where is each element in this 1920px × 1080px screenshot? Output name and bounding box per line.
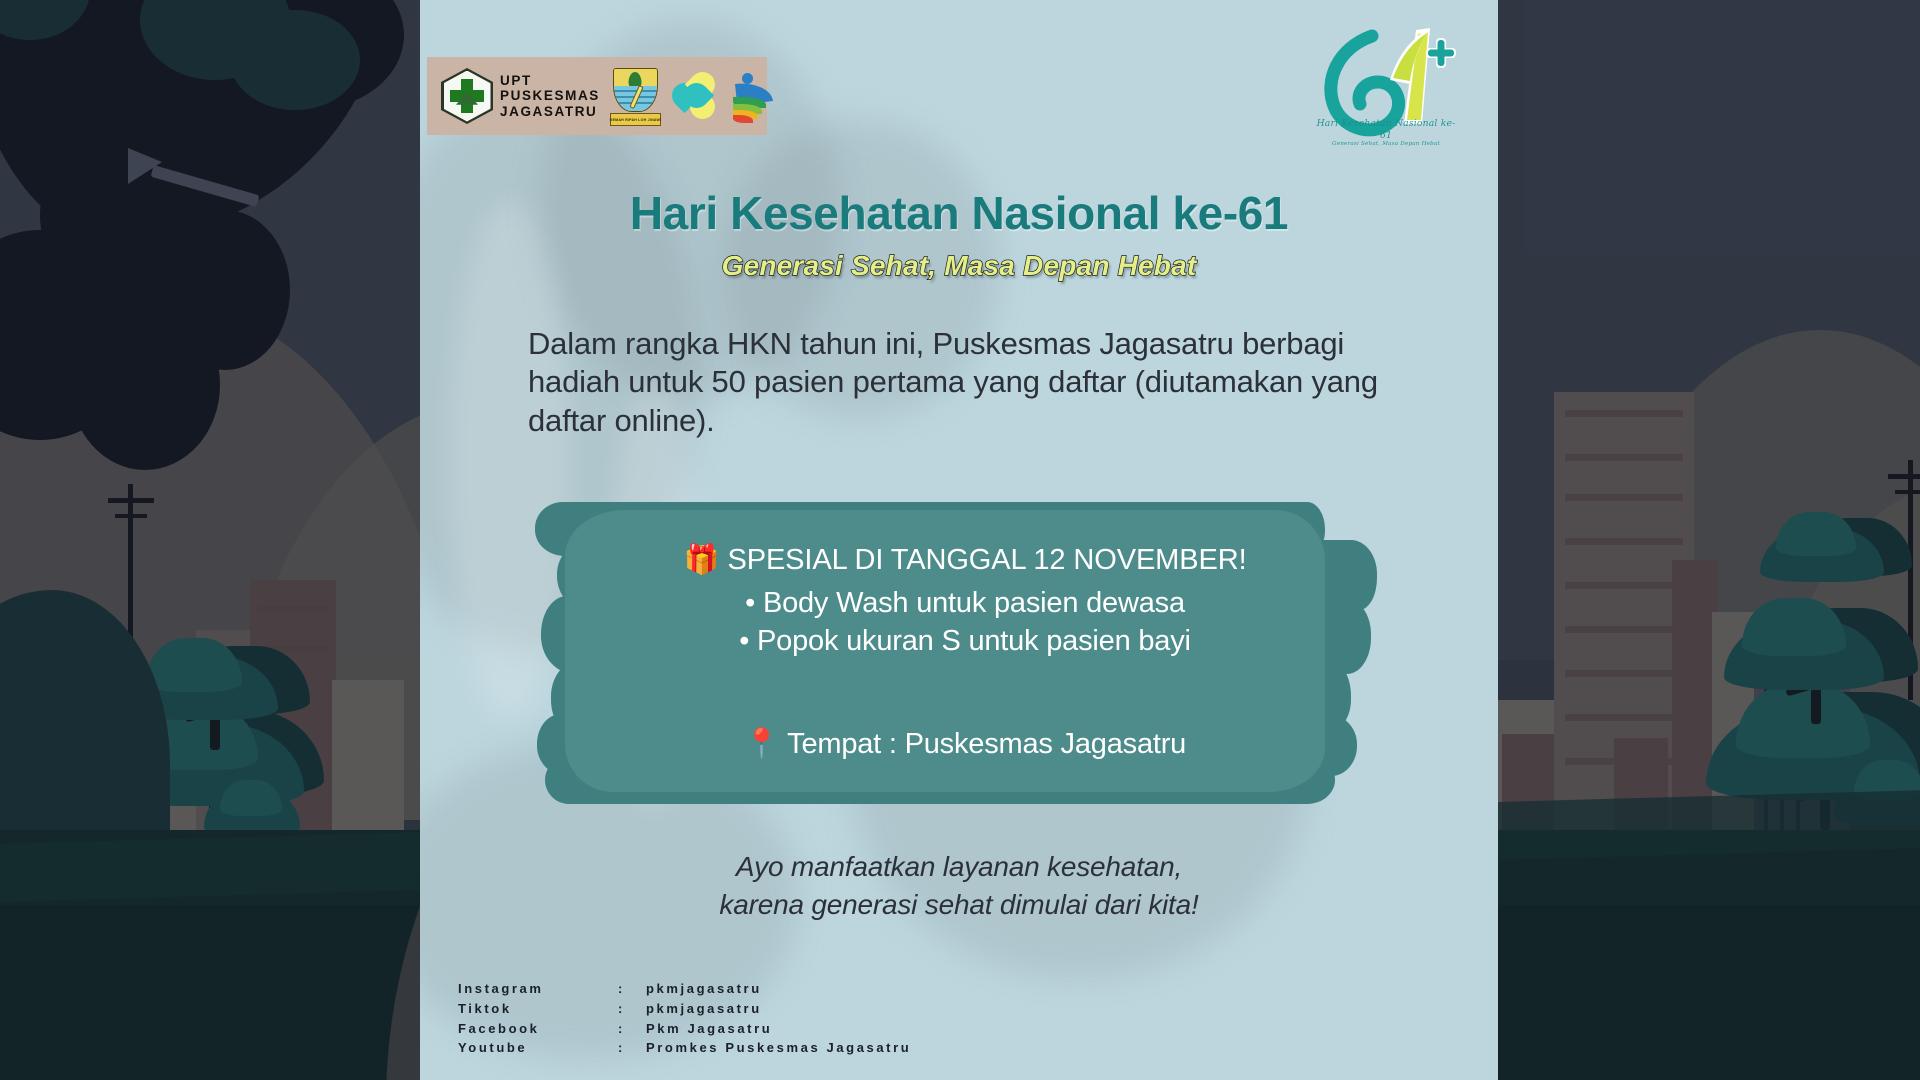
social-handle[interactable]: Pkm Jagasatru (646, 1019, 911, 1039)
closing-message: Ayo manfaatkan layanan kesehatan, karena… (500, 848, 1418, 923)
social-separator: : (618, 1019, 646, 1039)
social-separator: : (618, 1038, 646, 1058)
map-pin-emoji-icon: 📍 (744, 726, 780, 760)
highlight-location-text: Tempat : Puskesmas Jagasatru (787, 728, 1186, 760)
social-media-table: Instagram : pkmjagasatru Tiktok : pkmjag… (458, 979, 911, 1058)
social-platform: Facebook (458, 1019, 618, 1039)
hkn-logo-caption: Hari Kesehatan Nasional ke-61 Generasi S… (1312, 118, 1460, 148)
germas-pinwheel-logo-icon (671, 71, 719, 121)
social-handle[interactable]: Promkes Puskesmas Jagasatru (646, 1038, 911, 1058)
bullet-glyph: • (739, 625, 749, 657)
list-item: • Popok ukuran S untuk pasien bayi (565, 622, 1365, 660)
list-item-label: Body Wash untuk pasien dewasa (763, 587, 1185, 619)
puskesmas-jagasatru-logo: UPT PUSKESMAS JAGASATRU (441, 68, 600, 124)
closing-line-2: karena generasi sehat dimulai dari kita! (500, 886, 1418, 924)
table-row: Youtube : Promkes Puskesmas Jagasatru (458, 1038, 911, 1058)
logo-line-2: PUSKESMAS (500, 88, 600, 103)
gift-emoji-icon: 🎁 (683, 542, 719, 576)
institution-logo-bar: UPT PUSKESMAS JAGASATRU GEMAH RIPAH LOH … (427, 57, 767, 135)
poster-screenshot: UPT PUSKESMAS JAGASATRU GEMAH RIPAH LOH … (0, 0, 1920, 1080)
table-row: Facebook : Pkm Jagasatru (458, 1019, 911, 1039)
bullet-glyph: • (745, 587, 755, 619)
social-separator: : (618, 999, 646, 1019)
hkn-caption-main: Hari Kesehatan Nasional ke-61 (1312, 118, 1460, 141)
closing-line-1: Ayo manfaatkan layanan kesehatan, (500, 848, 1418, 886)
highlight-location: 📍 Tempat : Puskesmas Jagasatru (565, 726, 1365, 761)
social-media-footer: Instagram : pkmjagasatru Tiktok : pkmjag… (458, 979, 911, 1058)
social-separator: : (618, 979, 646, 999)
highlight-brush-block: 🎁 SPESIAL DI TANGGAL 12 NOVEMBER! • Body… (515, 500, 1415, 830)
logo-line-3: JAGASATRU (500, 104, 600, 119)
emblem-ribbon-text: GEMAH RIPAH LOH JINAWI (610, 118, 662, 122)
hkn-61-anniversary-logo-icon: Hari Kesehatan Nasional ke-61 Generasi S… (1312, 14, 1460, 150)
highlight-heading: 🎁 SPESIAL DI TANGGAL 12 NOVEMBER! (565, 542, 1365, 577)
green-cross-hexagon-logo-icon (441, 68, 493, 124)
puskesmas-logo-text: UPT PUSKESMAS JAGASATRU (500, 73, 600, 118)
social-platform: Instagram (458, 979, 618, 999)
kemenkes-person-swoosh-logo-icon (730, 69, 776, 123)
lead-paragraph: Dalam rangka HKN tahun ini, Puskesmas Ja… (528, 325, 1394, 440)
social-platform: Tiktok (458, 999, 618, 1019)
page-title: Hari Kesehatan Nasional ke-61 (420, 186, 1498, 240)
poster-panel: UPT PUSKESMAS JAGASATRU GEMAH RIPAH LOH … (420, 0, 1498, 1080)
logo-line-1: UPT (500, 73, 600, 88)
highlight-bullet-list: • Body Wash untuk pasien dewasa • Popok … (565, 584, 1365, 661)
list-item: • Body Wash untuk pasien dewasa (565, 584, 1365, 622)
page-subtitle: Generasi Sehat, Masa Depan Hebat (420, 250, 1498, 282)
social-platform: Youtube (458, 1038, 618, 1058)
list-item-label: Popok ukuran S untuk pasien bayi (757, 625, 1191, 657)
social-handle[interactable]: pkmjagasatru (646, 979, 911, 999)
emblem-ribbon: GEMAH RIPAH LOH JINAWI (610, 113, 661, 126)
kota-cirebon-shield-emblem-icon: GEMAH RIPAH LOH JINAWI (611, 66, 660, 126)
table-row: Tiktok : pkmjagasatru (458, 999, 911, 1019)
highlight-heading-text: SPESIAL DI TANGGAL 12 NOVEMBER! (727, 544, 1246, 576)
highlight-text-group: 🎁 SPESIAL DI TANGGAL 12 NOVEMBER! • Body… (515, 500, 1415, 830)
hkn-caption-sub: Generasi Sehat, Masa Depan Hebat (1312, 141, 1460, 148)
social-handle[interactable]: pkmjagasatru (646, 999, 911, 1019)
table-row: Instagram : pkmjagasatru (458, 979, 911, 999)
